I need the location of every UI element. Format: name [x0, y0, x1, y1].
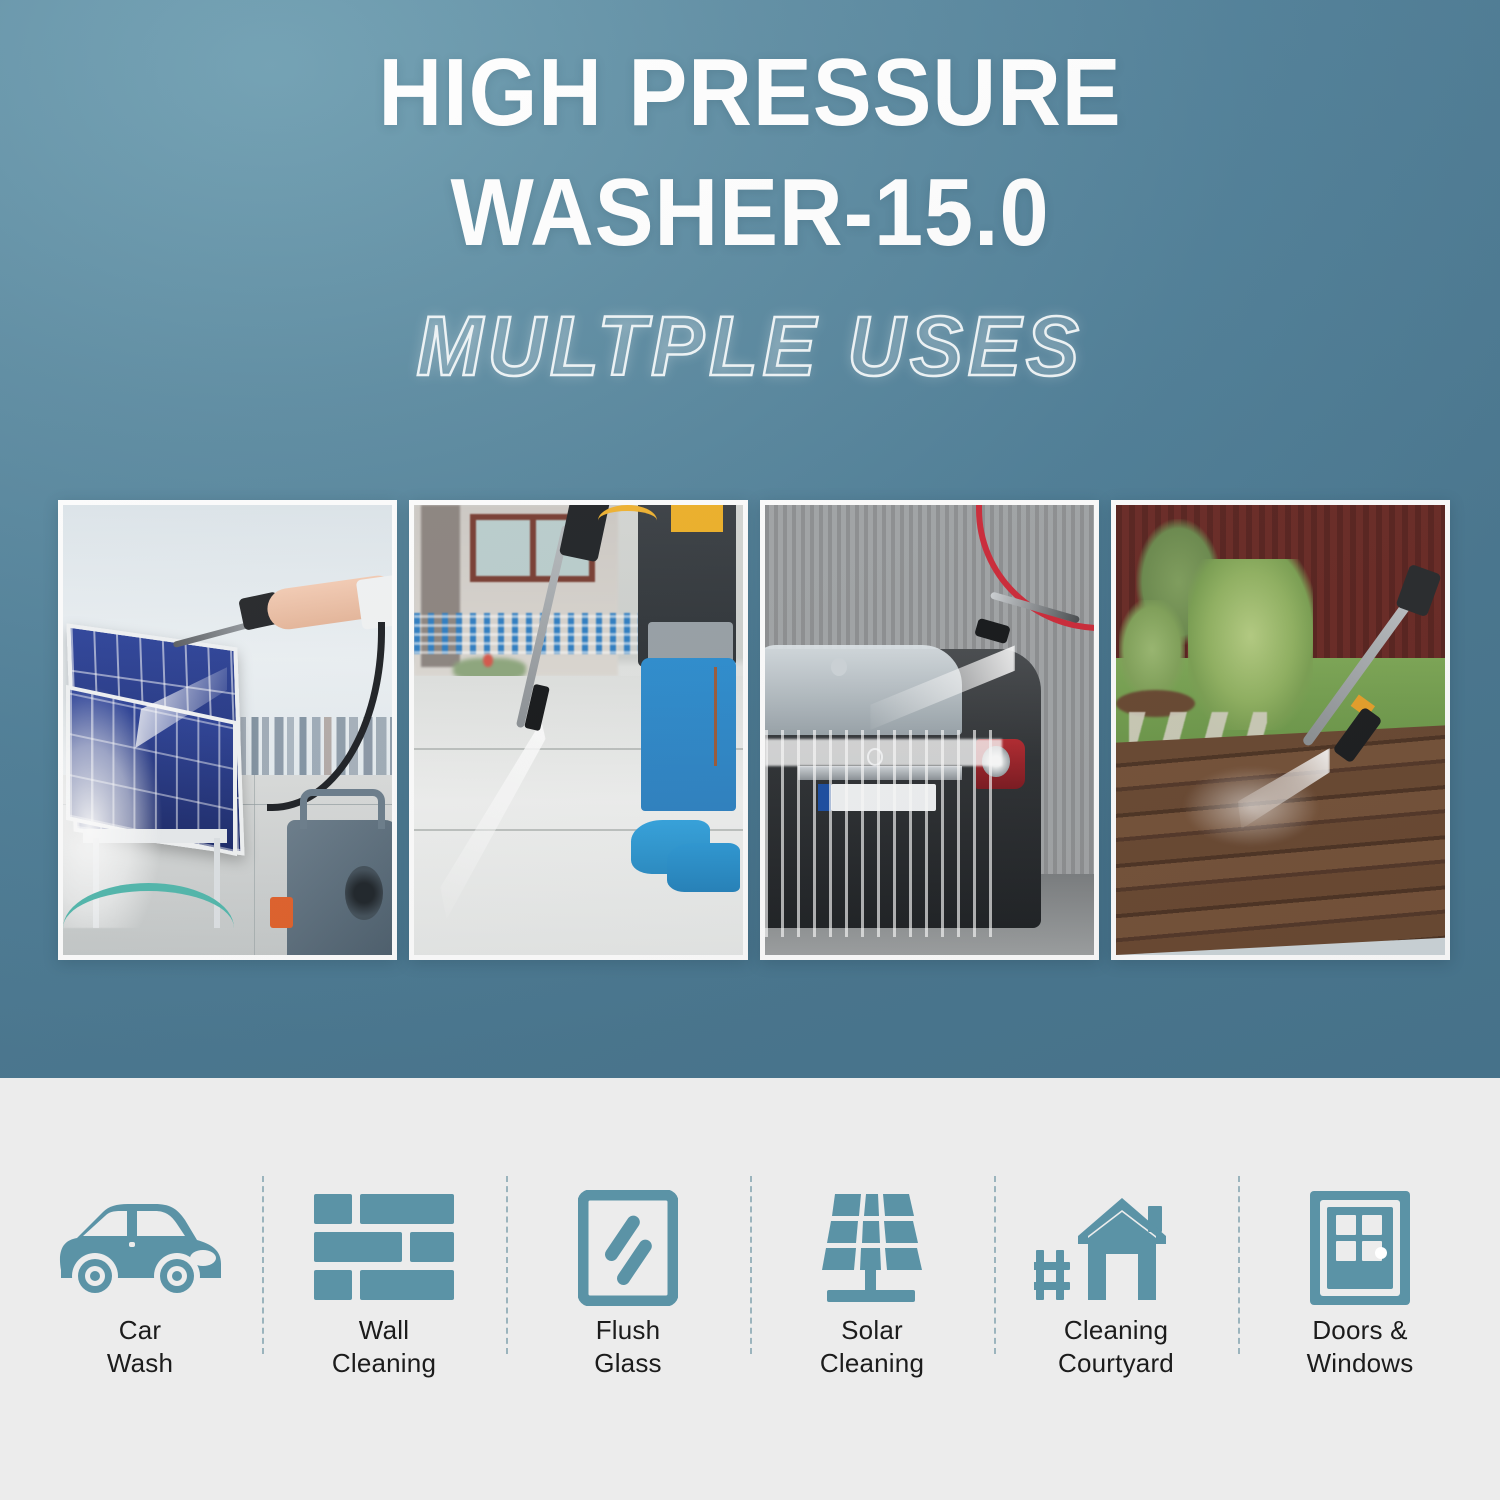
- headline-line-2: WASHER-15.0: [60, 164, 1440, 262]
- door-icon: [1238, 1190, 1482, 1306]
- zipper: [714, 667, 717, 766]
- feature-car-wash[interactable]: Car Wash: [18, 1190, 262, 1390]
- trouser-panel: [648, 622, 734, 663]
- title-block: HIGH PRESSURE WASHER-15.0 MULTPLE USES: [0, 44, 1500, 395]
- yellow-shirt: [671, 505, 724, 532]
- feature-flush-glass[interactable]: Flush Glass: [506, 1190, 750, 1390]
- brick-wall-icon: [262, 1190, 506, 1306]
- headline-line-1: HIGH PRESSURE: [60, 44, 1440, 142]
- pressure-washer-unit: [287, 820, 392, 955]
- blue-jeans: [641, 658, 736, 811]
- house-icon: [994, 1190, 1238, 1306]
- photo-strip: [58, 500, 1450, 960]
- product-feature-poster: HIGH PRESSURE WASHER-15.0 MULTPLE USES: [0, 0, 1500, 1500]
- feature-label: Solar Cleaning: [820, 1314, 924, 1380]
- feature-row: Car Wash Wall Cleaning: [18, 1190, 1482, 1390]
- yellow-hose: [598, 505, 657, 537]
- hose-connector: [270, 897, 293, 929]
- sneaker-right: [667, 843, 739, 893]
- feature-wall-cleaning[interactable]: Wall Cleaning: [262, 1190, 506, 1390]
- feature-label: Doors & Windows: [1307, 1314, 1414, 1380]
- feature-label: Car Wash: [107, 1314, 173, 1380]
- photo-deck-cleaning: [1111, 500, 1450, 960]
- washer-handle: [300, 789, 386, 830]
- photo-pavement-cleaning: [409, 500, 748, 960]
- bush-small: [1119, 600, 1185, 699]
- bush-large: [1188, 559, 1313, 730]
- feature-solar-cleaning[interactable]: Solar Cleaning: [750, 1190, 994, 1390]
- flower: [483, 654, 493, 668]
- photo-solar-panel-cleaning: [58, 500, 397, 960]
- hero-section: HIGH PRESSURE WASHER-15.0 MULTPLE USES: [0, 0, 1500, 1078]
- solar-panel-icon: [750, 1190, 994, 1306]
- photo-car-washing: [760, 500, 1099, 960]
- feature-label: Cleaning Courtyard: [1058, 1314, 1174, 1380]
- fence-highlights: [414, 613, 644, 654]
- feature-label: Wall Cleaning: [332, 1314, 436, 1380]
- feature-doors-windows[interactable]: Doors & Windows: [1238, 1190, 1482, 1390]
- foam-band: [765, 739, 1002, 766]
- glass-pane-icon: [506, 1190, 750, 1306]
- feature-cleaning-courtyard[interactable]: Cleaning Courtyard: [994, 1190, 1238, 1390]
- feature-label: Flush Glass: [594, 1314, 661, 1380]
- car-icon: [18, 1190, 262, 1306]
- subtitle-outline-text: MULTPLE USES: [38, 298, 1463, 395]
- feature-bar: Car Wash Wall Cleaning: [0, 1078, 1500, 1500]
- roof-antenna: [831, 658, 847, 676]
